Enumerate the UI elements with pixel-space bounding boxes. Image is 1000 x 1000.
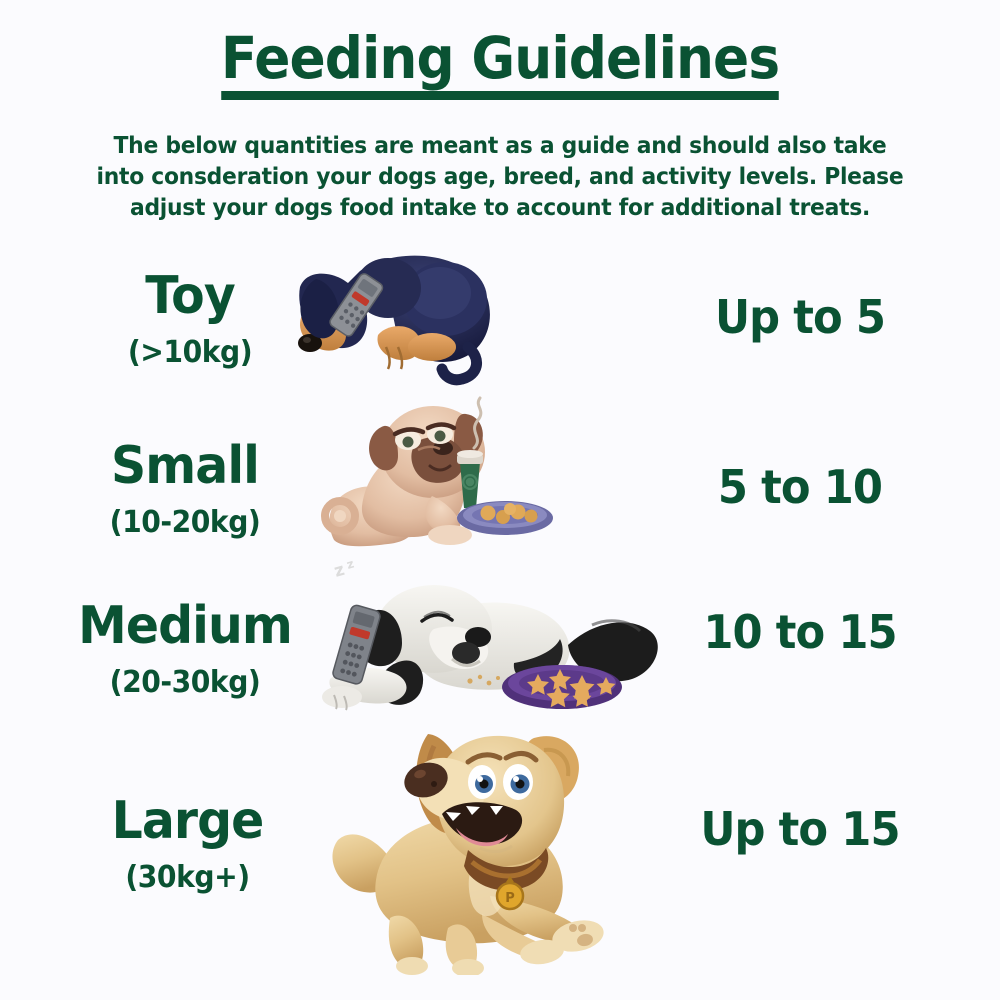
amount-medium: 10 to 15 (650, 605, 951, 659)
size-label-small: Small (10-20kg) (58, 440, 312, 538)
svg-text:z: z (345, 556, 356, 571)
amount-small: 5 to 10 (650, 460, 951, 514)
grumpy-pug-with-coffee-and-cookies-icon (300, 390, 555, 555)
subtitle-text: The below quantities are meant as a guid… (91, 130, 909, 224)
page-title-text: Feeding Guidelines (221, 28, 779, 100)
size-label-medium: Medium (20-30kg) (49, 600, 322, 698)
feeding-guidelines-page: Feeding Guidelines The below quantities … (0, 0, 1000, 1000)
amount-toy: Up to 5 (650, 290, 951, 344)
size-name: Toy (68, 270, 312, 322)
table-row: Large (30kg+) (0, 780, 1000, 980)
svg-text:P: P (505, 891, 515, 906)
table-row: Small (10-20kg) (0, 425, 1000, 575)
size-label-toy: Toy (>10kg) (68, 270, 312, 368)
sleeping-dachshund-with-remote-icon (282, 243, 507, 388)
page-title: Feeding Guidelines (40, 28, 960, 100)
header: Feeding Guidelines The below quantities … (0, 0, 1000, 224)
size-name: Small (58, 440, 312, 492)
running-happy-labrador-icon: P (330, 700, 650, 975)
table-row: Toy (>10kg) (0, 250, 1000, 400)
size-label-large: Large (30kg+) (54, 795, 322, 893)
size-name: Large (54, 795, 322, 847)
size-weight: (>10kg) (68, 338, 312, 368)
amount-large: Up to 15 (650, 802, 951, 856)
size-weight: (30kg+) (54, 863, 322, 893)
size-weight: (20-30kg) (49, 668, 322, 698)
size-weight: (10-20kg) (58, 508, 312, 538)
svg-text:z: z (332, 560, 347, 582)
size-name: Medium (49, 600, 322, 652)
